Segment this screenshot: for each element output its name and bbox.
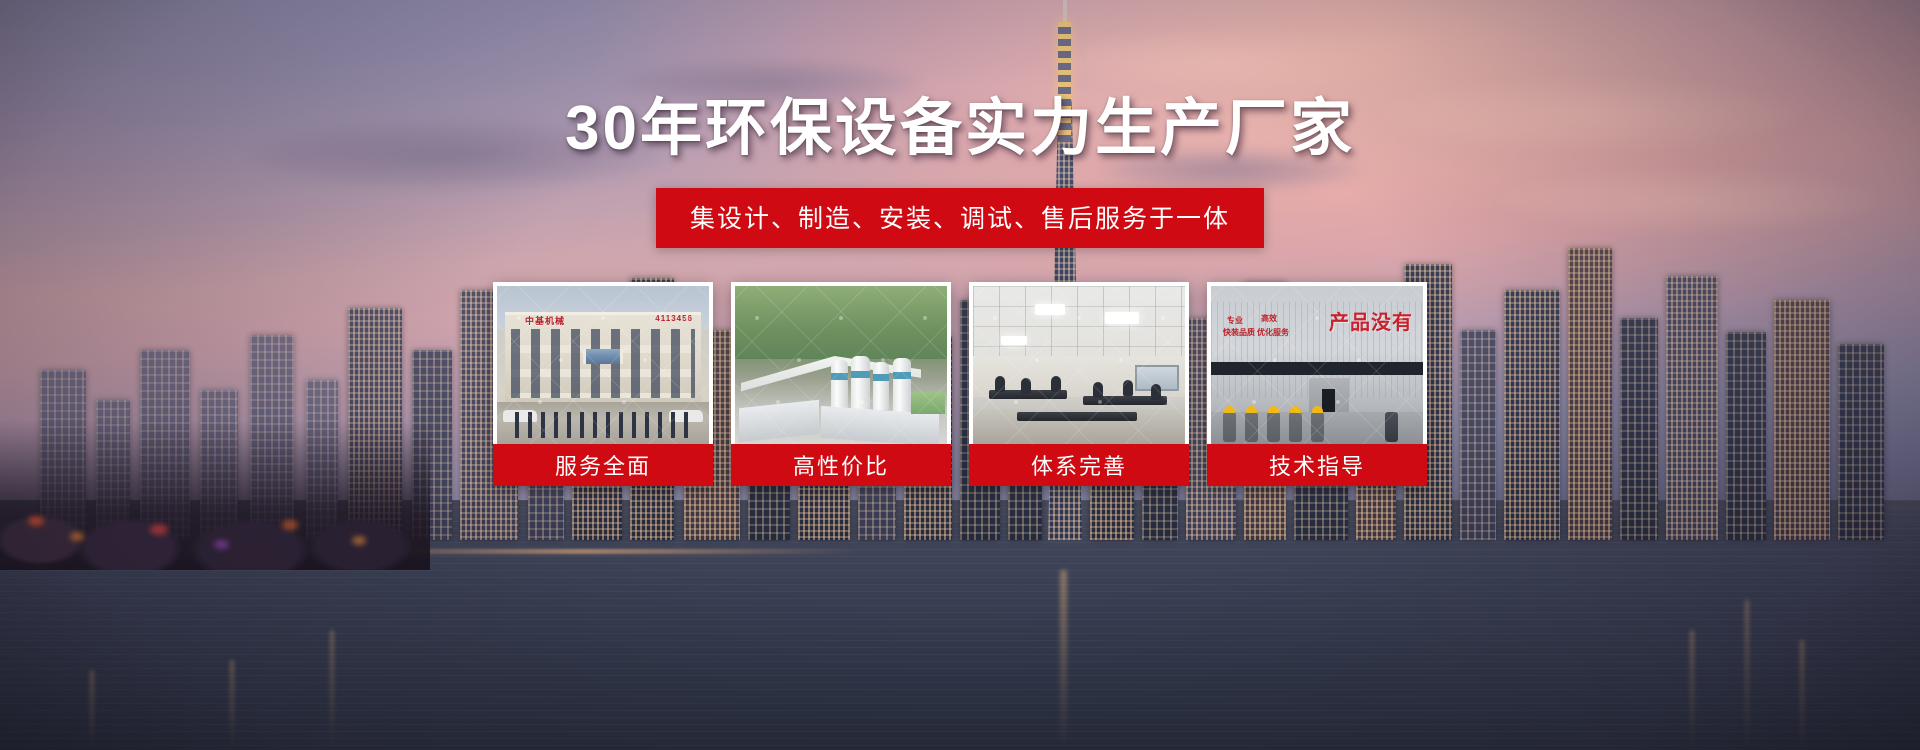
feature-card[interactable]: 体系完善 [969, 282, 1189, 486]
card-photo-factory-workshop: 产品没有 专业 快装品质 高效 优化服务 [1211, 286, 1423, 444]
feature-card[interactable]: 产品没有 专业 快装品质 高效 优化服务 [1207, 282, 1427, 486]
factory-wall-text-small: 高效 [1261, 314, 1277, 323]
hero-banner: 30年环保设备实力生产厂家 集设计、制造、安装、调试、售后服务于一体 中基机械 … [0, 0, 1920, 750]
factory-wall-text-small: 快装品质 [1223, 328, 1255, 337]
card-label: 体系完善 [969, 444, 1189, 486]
building-signage-text: 中基机械 [525, 314, 565, 327]
building-phone-text: 4113456 [655, 314, 693, 323]
feature-card[interactable]: 高性价比 [731, 282, 951, 486]
feature-card-list: 中基机械 4113456 [493, 282, 1427, 486]
banner-subtitle-bar: 集设计、制造、安装、调试、售后服务于一体 [656, 188, 1264, 248]
factory-wall-text-small: 专业 [1227, 316, 1243, 325]
banner-headline: 30年环保设备实力生产厂家 [565, 98, 1355, 160]
card-photo-office-building: 中基机械 4113456 [497, 286, 709, 444]
card-photo-industrial-plant [735, 286, 947, 444]
feature-card[interactable]: 中基机械 4113456 [493, 282, 713, 486]
card-label: 服务全面 [493, 444, 713, 486]
banner-content: 30年环保设备实力生产厂家 集设计、制造、安装、调试、售后服务于一体 中基机械 … [0, 0, 1920, 750]
factory-wall-text-small: 优化服务 [1257, 328, 1289, 337]
factory-wall-text-large: 产品没有 [1329, 306, 1413, 335]
card-photo-office-interior [973, 286, 1185, 444]
card-label: 高性价比 [731, 444, 951, 486]
card-label: 技术指导 [1207, 444, 1427, 486]
